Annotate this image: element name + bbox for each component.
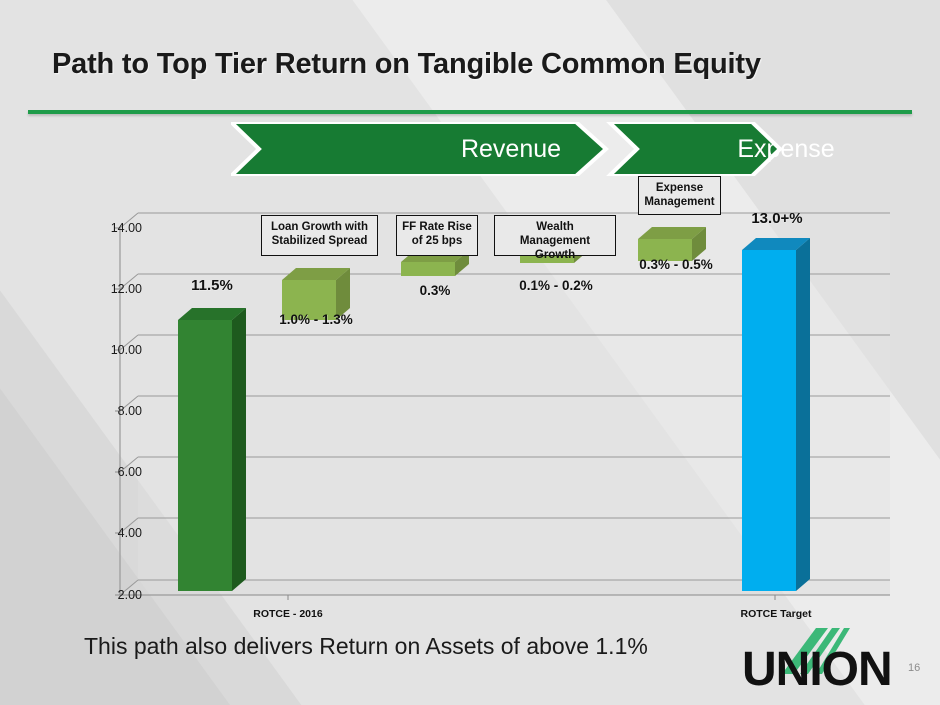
chart-area: 14.00 12.00 10.00 8.00 6.00 4.00 2.00: [70, 195, 890, 620]
title-divider-rule: [28, 110, 912, 114]
y-tick-12: 12.00: [94, 282, 142, 296]
footer-caption: This path also delivers Return on Assets…: [84, 633, 744, 660]
value-label-wealth-management: 0.1% - 0.2%: [500, 278, 612, 293]
y-tick-6: 6.00: [94, 465, 142, 479]
page-title: Path to Top Tier Return on Tangible Comm…: [52, 48, 892, 81]
callout-expense-management-line1: Expense: [644, 181, 715, 195]
expense-chevron-label: Expense: [621, 122, 940, 176]
y-tick-2: 2.00: [94, 588, 142, 602]
value-label-rotce-target: 13.0+%: [730, 210, 824, 227]
y-tick-10: 10.00: [94, 343, 142, 357]
category-label-rotce-2016: ROTCE - 2016: [228, 608, 348, 620]
callout-ff-rate-rise[interactable]: FF Rate Rise of 25 bps: [396, 215, 478, 256]
callout-expense-management[interactable]: Expense Management: [638, 176, 721, 215]
bar-expense-management[interactable]: [638, 227, 706, 261]
page-number: 16: [908, 662, 920, 674]
callout-wealth-management-line1: Wealth Management: [500, 220, 610, 248]
union-logo-wordmark: UNION: [742, 646, 892, 694]
callout-wealth-management-line2: Growth: [500, 248, 610, 262]
callout-ff-rate-rise-line1: FF Rate Rise: [402, 220, 472, 234]
y-axis-labels: 14.00 12.00 10.00 8.00 6.00 4.00 2.00: [82, 195, 142, 620]
category-label-rotce-target: ROTCE Target: [716, 608, 836, 620]
y-tick-14: 14.00: [94, 221, 142, 235]
bar-rotce-2016-shape: [178, 308, 246, 591]
callout-ff-rate-rise-line2: of 25 bps: [402, 234, 472, 248]
bar-rotce-2016[interactable]: [178, 308, 246, 591]
callout-wealth-management[interactable]: Wealth Management Growth: [494, 215, 616, 256]
callout-expense-management-line2: Management: [644, 195, 715, 209]
value-label-expense-management: 0.3% - 0.5%: [620, 257, 732, 272]
callout-loan-growth-line2: Stabilized Spread: [267, 234, 372, 248]
value-label-ff-rate-rise: 0.3%: [390, 283, 480, 298]
callout-loan-growth-line1: Loan Growth with: [267, 220, 372, 234]
bar-rotce-target-shape: [742, 238, 810, 591]
process-banner: Revenue Expense: [231, 122, 782, 176]
bar-expense-management-shape: [638, 227, 706, 261]
value-label-loan-growth: 1.0% - 1.3%: [260, 312, 372, 327]
y-tick-4: 4.00: [94, 526, 142, 540]
bar-rotce-target[interactable]: [742, 238, 810, 591]
callout-loan-growth[interactable]: Loan Growth with Stabilized Spread: [261, 215, 378, 256]
y-tick-8: 8.00: [94, 404, 142, 418]
union-logo: UNION: [742, 628, 907, 698]
value-label-rotce-2016: 11.5%: [172, 277, 252, 294]
slide: Path to Top Tier Return on Tangible Comm…: [0, 0, 940, 705]
